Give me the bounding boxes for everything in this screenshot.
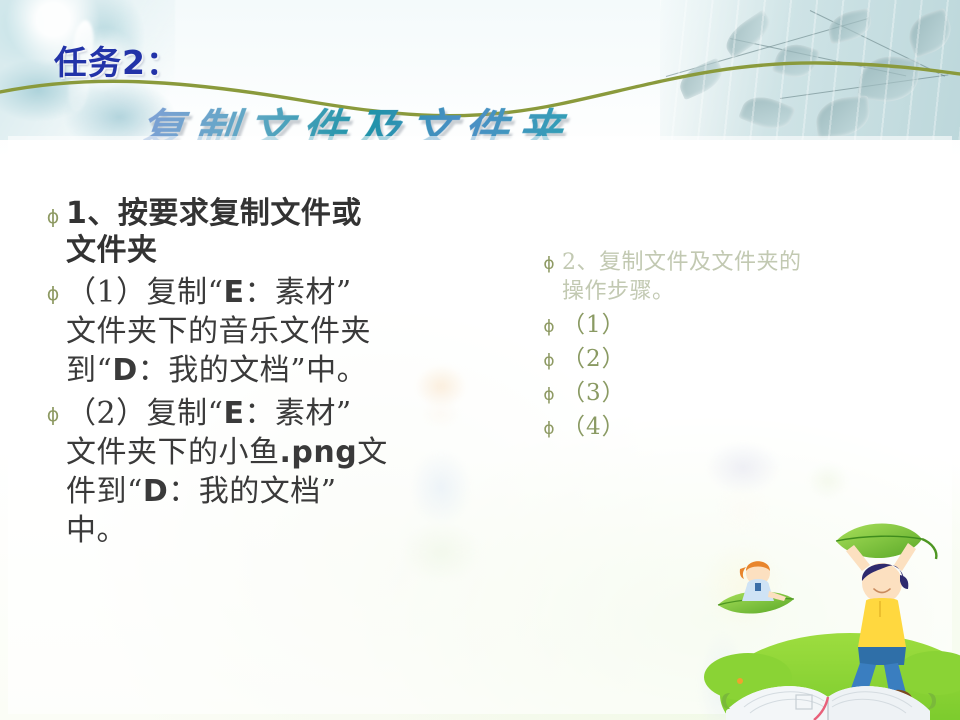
list-item: ϕ1、按要求复制文件或文件夹 xyxy=(40,196,470,269)
bullet-icon: ϕ xyxy=(536,379,562,404)
text-line: （1）复制“E：素材” xyxy=(66,273,470,312)
bullet-icon: ϕ xyxy=(536,413,562,438)
bullet-icon: ϕ xyxy=(40,273,66,304)
text-line: （3） xyxy=(562,379,896,409)
list-item-text-item-2: （2）复制“E：素材”文件夹下的小鱼.png文件到“D：我的文档”中。 xyxy=(66,394,470,550)
list-item: ϕ（2）复制“E：素材”文件夹下的小鱼.png文件到“D：我的文档”中。 xyxy=(40,394,470,550)
text-line: 2、复制文件及文件夹的 xyxy=(562,248,896,277)
list-item-text-step-2: （2） xyxy=(562,345,896,375)
children-on-book-illustration-icon xyxy=(700,505,960,720)
text-line: 1、按要求复制文件或 xyxy=(66,196,470,233)
list-item: ϕ（1） xyxy=(536,311,896,341)
list-item-text-step-4: （4） xyxy=(562,413,896,443)
text-line: 中。 xyxy=(66,511,470,550)
text-line: 文件夹下的音乐文件夹 xyxy=(66,312,470,351)
left-text-column: ϕ1、按要求复制文件或文件夹ϕ（1）复制“E：素材”文件夹下的音乐文件夹到“D：… xyxy=(40,196,470,554)
list-item-text-item-1: （1）复制“E：素材”文件夹下的音乐文件夹到“D：我的文档”中。 xyxy=(66,273,470,390)
page-title-task: 任务2： xyxy=(54,36,180,84)
list-item-text-step-1: （1） xyxy=(562,311,896,341)
text-line: （2）复制“E：素材” xyxy=(66,394,470,433)
text-line: 操作步骤。 xyxy=(562,277,896,306)
bullet-icon: ϕ xyxy=(40,196,66,227)
right-text-column: ϕ2、复制文件及文件夹的操作步骤。ϕ（1）ϕ（2）ϕ（3）ϕ（4） xyxy=(536,248,896,447)
list-item-text-heading-1: 1、按要求复制文件或文件夹 xyxy=(66,196,470,269)
list-item: ϕ（4） xyxy=(536,413,896,443)
slide-canvas: 任务2： 复制文件及文件夹 ϕ1、按要求复制文件或文件夹ϕ（1）复制“E：素材”… xyxy=(0,0,960,720)
list-item: ϕ（1）复制“E：素材”文件夹下的音乐文件夹到“D：我的文档”中。 xyxy=(40,273,470,390)
text-line: （2） xyxy=(562,345,896,375)
bullet-icon: ϕ xyxy=(536,345,562,370)
text-line: （1） xyxy=(562,311,896,341)
list-item: ϕ（2） xyxy=(536,345,896,375)
text-line: （4） xyxy=(562,413,896,443)
list-item-text-step-3: （3） xyxy=(562,379,896,409)
list-item-text-heading-2: 2、复制文件及文件夹的操作步骤。 xyxy=(562,248,896,307)
list-item: ϕ（3） xyxy=(536,379,896,409)
text-line: 到“D：我的文档”中。 xyxy=(66,351,470,390)
slide-header: 任务2： 复制文件及文件夹 xyxy=(0,0,960,140)
bullet-icon: ϕ xyxy=(536,248,562,273)
text-line: 件到“D：我的文档” xyxy=(66,472,470,511)
list-item: ϕ2、复制文件及文件夹的操作步骤。 xyxy=(536,248,896,307)
text-line: 文件夹下的小鱼.png文 xyxy=(66,433,470,472)
bullet-icon: ϕ xyxy=(536,311,562,336)
page-title-subject: 复制文件及文件夹 xyxy=(137,94,576,140)
text-line: 文件夹 xyxy=(66,233,470,270)
bullet-icon: ϕ xyxy=(40,394,66,425)
